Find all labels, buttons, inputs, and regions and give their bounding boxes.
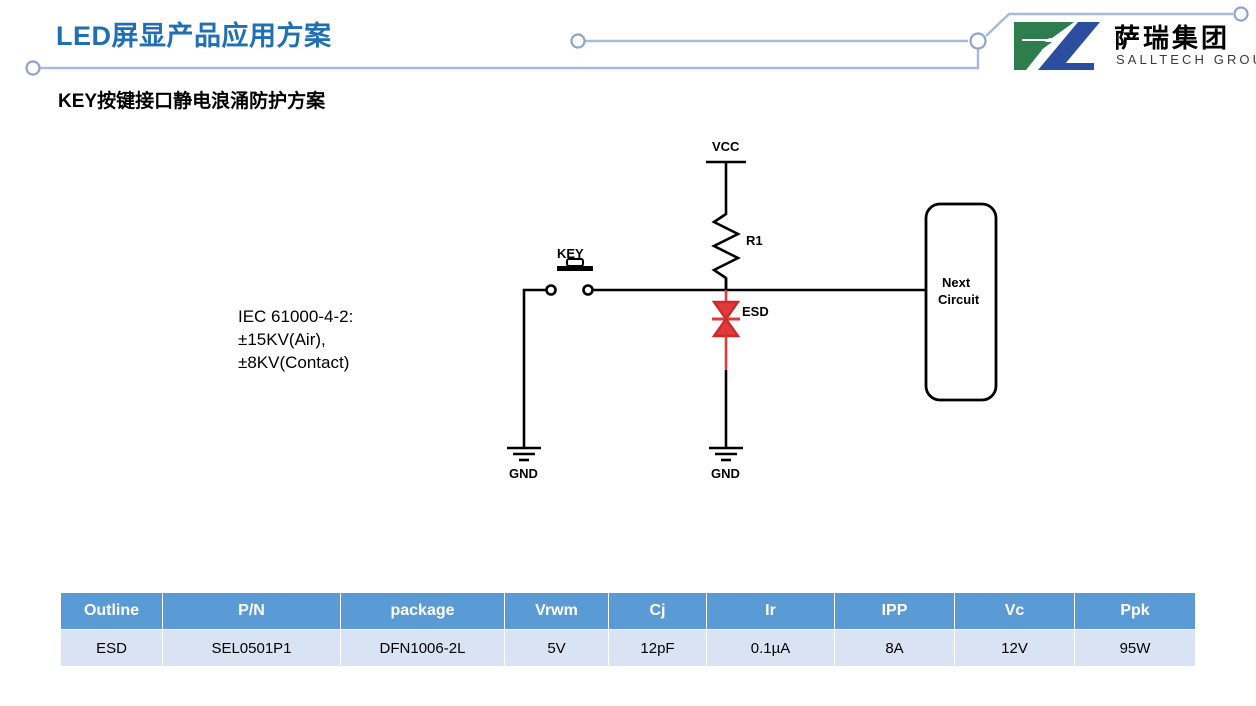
table-cell: 8A <box>835 630 955 667</box>
spec-table: Outline P/N package Vrwm Cj Ir IPP Vc Pp… <box>60 592 1196 667</box>
logo-english-name: SALLTECH GROUP <box>1116 52 1256 67</box>
vcc-label: VCC <box>712 139 740 154</box>
key-to-gnd-wire <box>524 290 546 448</box>
table-cell: DFN1006-2L <box>341 630 505 667</box>
gnd-left-label: GND <box>509 466 538 481</box>
table-cell: 5V <box>505 630 609 667</box>
table-header-row: Outline P/N package Vrwm Cj Ir IPP Vc Pp… <box>61 593 1196 630</box>
next-circuit-line2: Circuit <box>938 292 980 307</box>
r1-label: R1 <box>746 233 763 248</box>
header-node-junction <box>971 34 986 49</box>
section-subtitle: KEY按键接口静电浪涌防护方案 <box>58 86 325 113</box>
table-col-header: Cj <box>609 593 707 630</box>
gnd-mid-label: GND <box>711 466 740 481</box>
esd-diode-upper-triangle <box>714 302 738 319</box>
table-col-header: Ir <box>707 593 835 630</box>
table-col-header: Vc <box>955 593 1075 630</box>
table-row: ESD SEL0501P1 DFN1006-2L 5V 12pF 0.1µA 8… <box>61 630 1196 667</box>
esd-label: ESD <box>742 304 769 319</box>
salltech-logo-mark-icon <box>1012 20 1104 72</box>
table-cell: ESD <box>61 630 163 667</box>
key-terminal-left <box>547 286 556 295</box>
table-col-header: Ppk <box>1075 593 1196 630</box>
table-cell: SEL0501P1 <box>163 630 341 667</box>
key-plunger <box>567 259 583 266</box>
key-terminal-right <box>584 286 593 295</box>
header-node-left <box>27 62 40 75</box>
table-col-header: package <box>341 593 505 630</box>
logo-chinese-name: 萨瑞集团 <box>1114 18 1230 55</box>
table-cell: 0.1µA <box>707 630 835 667</box>
table-col-header: Vrwm <box>505 593 609 630</box>
esd-diode-lower-triangle <box>714 319 738 336</box>
page-title: LED屏显产品应用方案 <box>56 14 332 53</box>
table-col-header: P/N <box>163 593 341 630</box>
table-col-header: IPP <box>835 593 955 630</box>
circuit-diagram: VCC R1 KEY GND ESD GND Next Circuit <box>0 130 1256 510</box>
table-cell: 12pF <box>609 630 707 667</box>
header-node-mid <box>572 35 585 48</box>
next-circuit-line1: Next <box>942 275 971 290</box>
table-cell: 12V <box>955 630 1075 667</box>
table-cell: 95W <box>1075 630 1196 667</box>
table-col-header: Outline <box>61 593 163 630</box>
brand-logo: 萨瑞集团 SALLTECH GROUP <box>1012 18 1248 76</box>
